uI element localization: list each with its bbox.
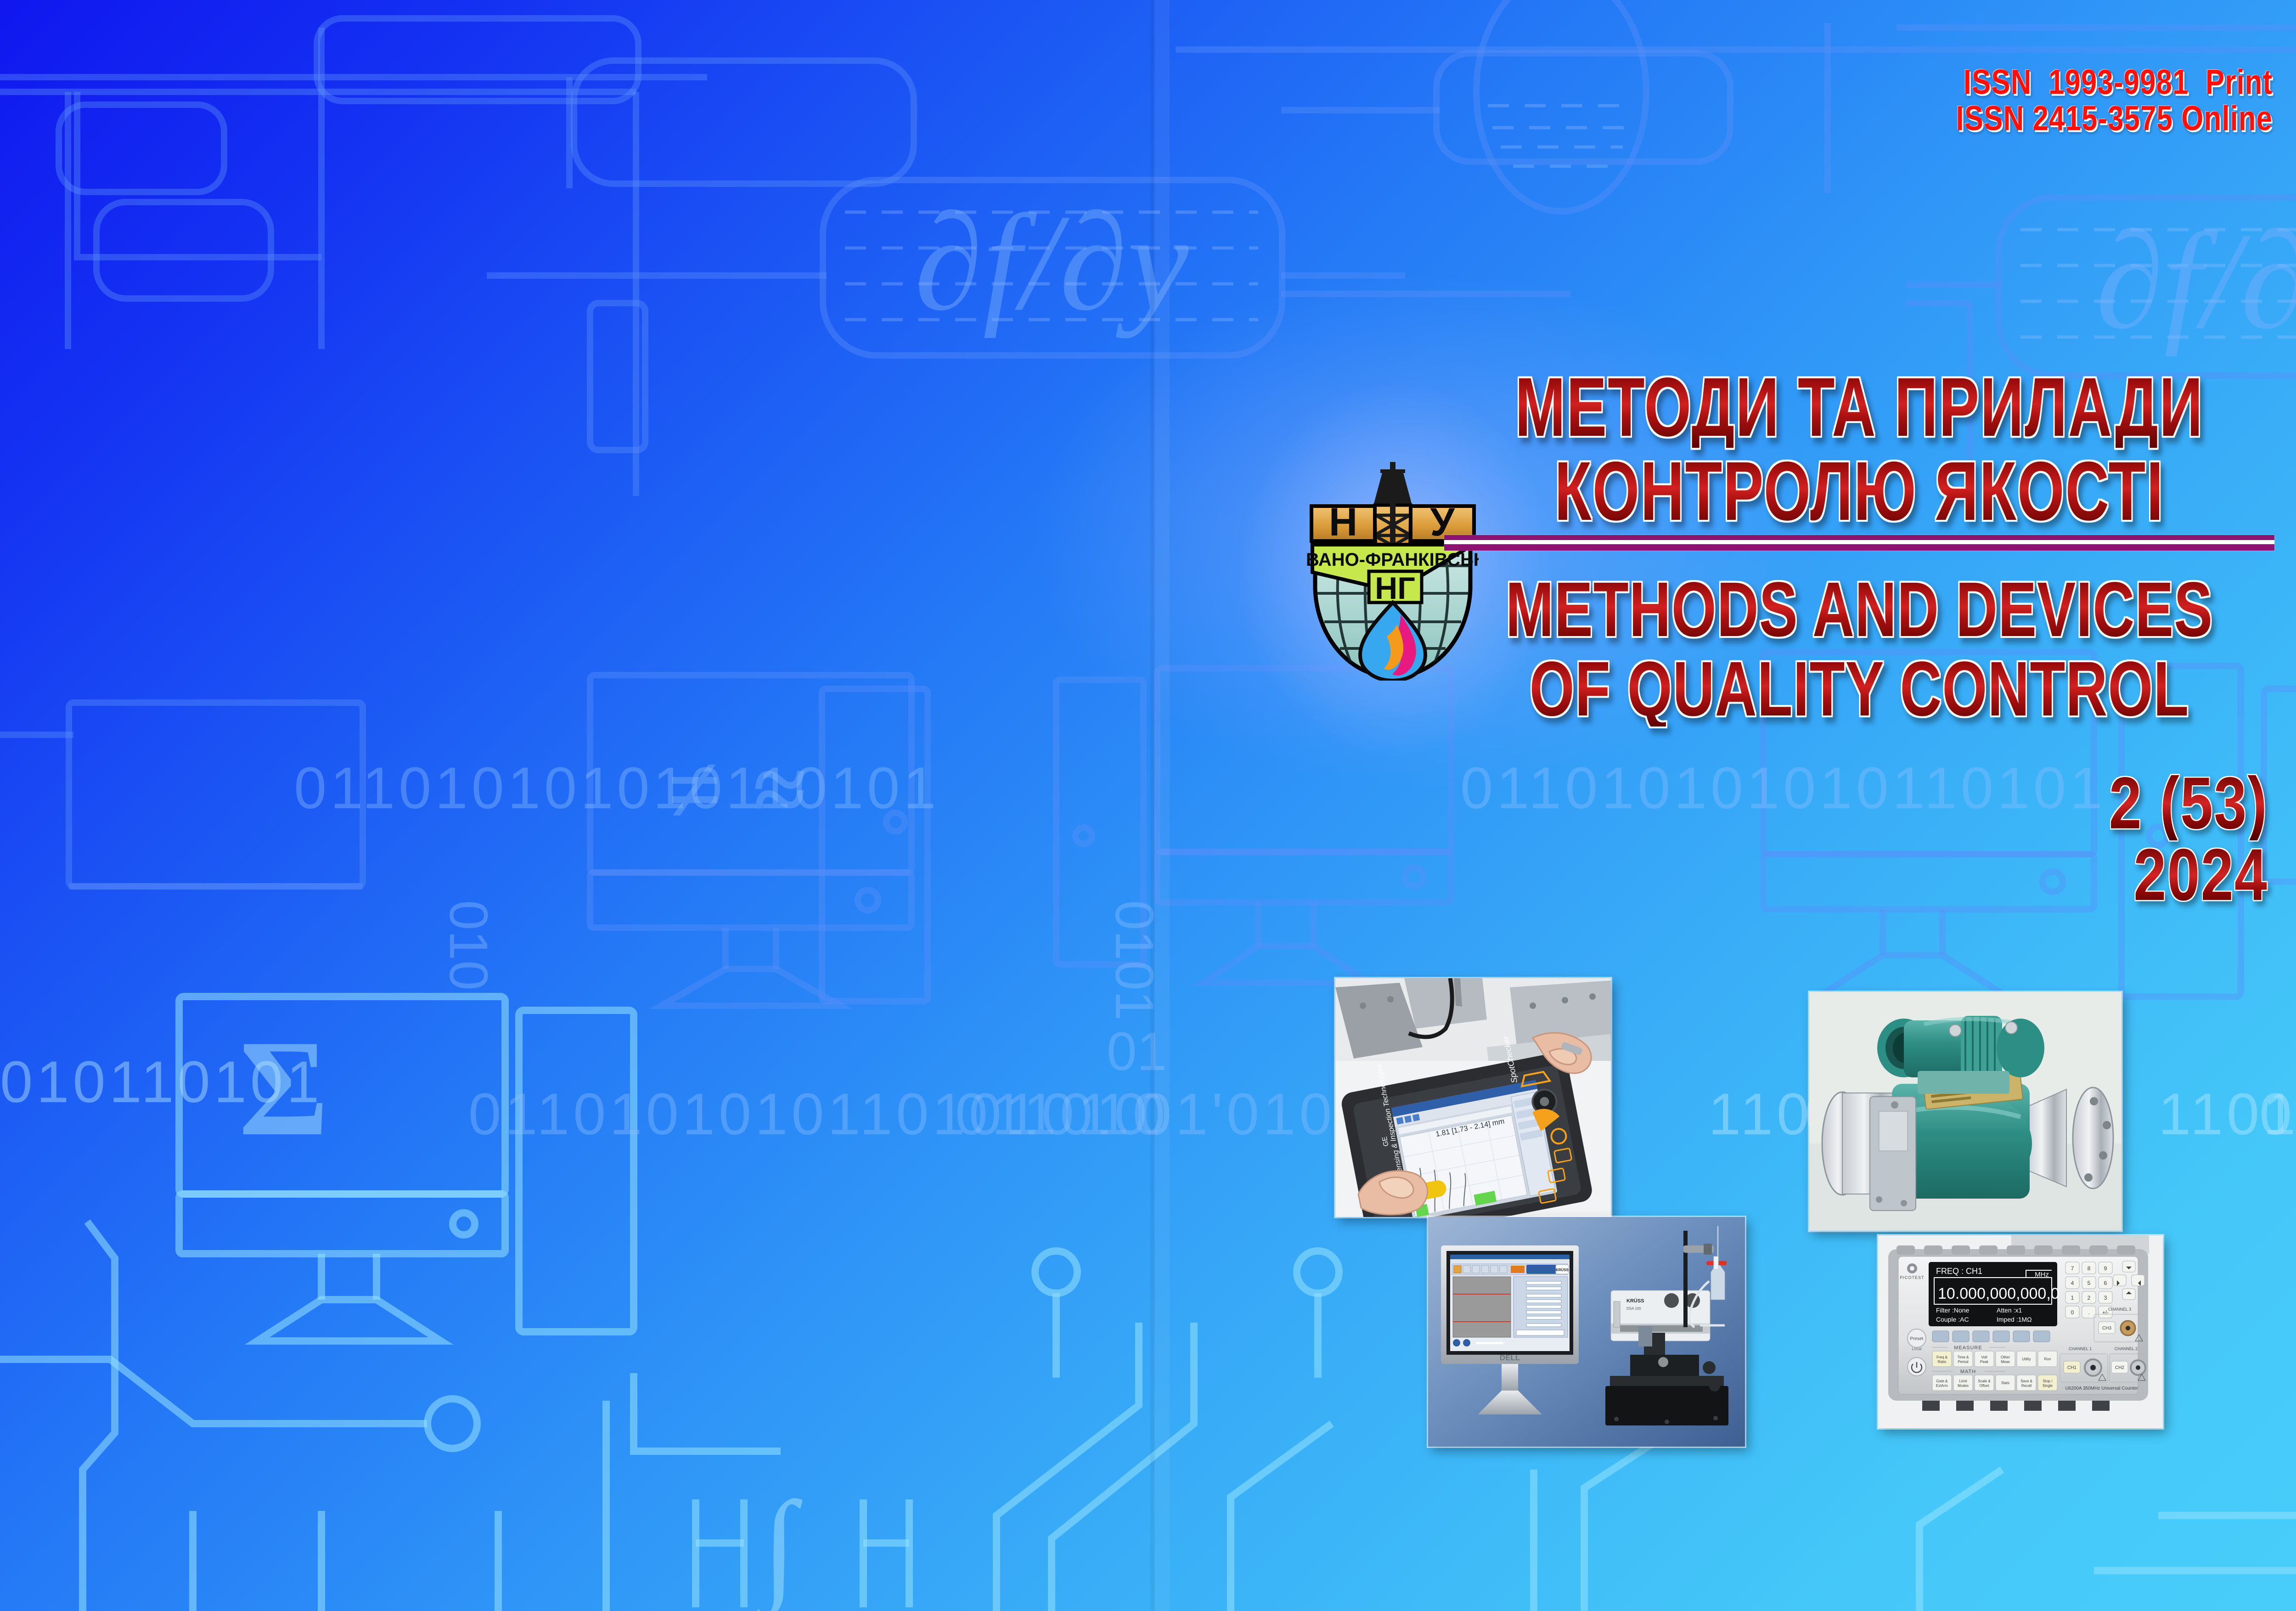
svg-text:010: 010 [438,900,499,991]
svg-text:0: 0 [2071,1309,2074,1316]
svg-text:≠: ≠ [668,737,721,843]
title-ua-line1: МЕТОДИ ТА ПРИЛАДИ [1441,367,2277,448]
svg-text:Preset: Preset [1910,1336,1924,1341]
svg-text:10.000,000,000,0: 10.000,000,000,0 [1938,1285,2060,1302]
svg-text:CH1: CH1 [2067,1365,2077,1370]
svg-text:5: 5 [2088,1280,2091,1286]
svg-text:MATH: MATH [1960,1369,1976,1374]
svg-text:НГ: НГ [1375,571,1415,606]
svg-text:DELL: DELL [1500,1353,1520,1362]
svg-text:9: 9 [2104,1265,2107,1272]
svg-text:01: 01 [1107,1021,1167,1082]
schematic-lines-topleft: ∂f/∂y [0,0,1646,496]
svg-text:Period: Period [1958,1360,1968,1364]
issue-number: 2 (53) [2109,767,2268,840]
svg-text:Single: Single [2043,1384,2053,1388]
svg-text:11010: 11010 [2158,1082,2296,1147]
svg-text:010110101: 010110101 [0,1049,323,1115]
svg-text:Meas: Meas [2001,1360,2010,1364]
svg-text:Gate &: Gate & [1936,1379,1948,1383]
svg-text:011: 011 [2259,1082,2296,1147]
svg-text:∂f/∂y: ∂f/∂y [2096,204,2296,357]
svg-text:U6200A 350MHz Universal Counte: U6200A 350MHz Universal Counter [2065,1386,2138,1391]
svg-text:Stats: Stats [2001,1381,2009,1385]
issn-online: ISSN 2415-3575 Online [1956,101,2273,138]
title-area: МЕТОДИ ТА ПРИЛАДИ КОНТРОЛЮ ЯКОСТІ METHOD… [1441,367,2277,732]
svg-text:Utility: Utility [2022,1357,2031,1361]
spine-crease [1153,0,1162,1611]
svg-text:Atten :x1: Atten :x1 [1997,1307,2022,1314]
svg-text:011010101010110101: 011010101010110101 [1460,755,2106,821]
svg-text:7: 7 [2071,1265,2074,1272]
journal-cover: .ln{fill:none;stroke:#5a8ffb;stroke-opac… [0,0,2296,1611]
svg-text:PICOTEST: PICOTEST [1900,1275,1924,1280]
svg-text:Couple :AC: Couple :AC [1936,1316,1969,1323]
photo-universal-counter: PICOTEST FREQ : CH1 MHz 10.000,000,000,0… [1878,1235,2163,1428]
svg-text:KRÜSS: KRÜSS [1556,1268,1569,1272]
svg-text:3: 3 [2104,1295,2107,1301]
svg-text:Offset: Offset [1979,1384,1989,1388]
svg-text:CHANNEL 2: CHANNEL 2 [2115,1346,2138,1351]
svg-text:6: 6 [2104,1280,2107,1286]
svg-text:Stop /: Stop / [2043,1379,2053,1383]
svg-text:0101: 0101 [1104,900,1165,1021]
svg-text:Modes: Modes [1958,1384,1969,1388]
svg-text:FREQ : CH1: FREQ : CH1 [1936,1267,1982,1276]
photo-tensiometer-workstation: KRÜSS DELL KRÜSS DSA 100 [1428,1217,1745,1447]
svg-text:8: 8 [2088,1265,2091,1272]
svg-text:2: 2 [2088,1295,2091,1301]
svg-text:MEASURE: MEASURE [1954,1345,1982,1351]
svg-text:Recall: Recall [2021,1384,2032,1388]
svg-text:011010: 011010 [955,1082,1169,1147]
svg-text:Scale &: Scale & [1978,1379,1991,1383]
svg-text:∂f/∂y: ∂f/∂y [915,186,1190,339]
title-en-line2: OF QUALITY CONTROL [1441,652,2277,727]
svg-text:∫: ∫ [754,1476,803,1611]
issn-print: ISSN 1993-9981 Print [1956,64,2273,102]
svg-text:Run: Run [2044,1357,2051,1361]
svg-text:CH2: CH2 [2115,1365,2124,1370]
svg-text:Σ: Σ [239,1012,329,1164]
logo-letter-n: Н [1329,500,1357,544]
svg-text:Peak: Peak [1980,1360,1989,1364]
svg-text:0110101010110101010: 0110101010110101010 [468,1082,1151,1147]
svg-text:CHANNEL 1: CHANNEL 1 [2069,1346,2092,1351]
svg-text:≈: ≈ [753,737,806,843]
title-divider [1444,535,2274,551]
svg-text:DSA 100: DSA 100 [1626,1307,1641,1311]
svg-text:011010101010110101: 011010101010110101 [294,755,940,821]
title-ua-line2: КОНТРОЛЮ ЯКОСТІ [1441,451,2277,532]
svg-text:CHANNEL 3: CHANNEL 3 [2108,1307,2131,1312]
svg-text:Filter :None: Filter :None [1936,1307,1970,1314]
svg-text:Save &: Save & [2020,1379,2032,1383]
issue-block: 2 (53) 2024 [2109,767,2268,910]
svg-text:CH3: CH3 [2102,1326,2111,1331]
photo-ultrasonic-flaw-detector: 1.81 [1.73 - 2.14] mm GE Sensing & Inspe… [1335,978,1611,1217]
svg-text:MHz: MHz [2035,1271,2049,1279]
svg-text:ExtArm: ExtArm [1936,1384,1948,1388]
issn-block: ISSN 1993-9981 Print ISSN 2415-3575 Onli… [1956,64,2273,137]
svg-text:Local: Local [1912,1346,1922,1351]
svg-text:Ratio: Ratio [1938,1360,1947,1364]
issue-year: 2024 [2109,839,2268,912]
photo-ultrasonic-flowmeter [1809,992,2122,1231]
logo-letters-ng: НГ [1369,571,1422,606]
svg-text:Freq &: Freq & [1936,1355,1948,1359]
title-en-line1: METHODS AND DEVICES [1441,573,2277,647]
svg-text:Limit: Limit [1959,1379,1968,1383]
svg-text:Imped :1MΩ: Imped :1MΩ [1997,1316,2032,1323]
svg-text:1: 1 [2071,1295,2074,1301]
svg-text:Volt: Volt [1981,1355,1987,1359]
svg-text:Time &: Time & [1957,1355,1969,1359]
svg-text:Other: Other [2001,1355,2010,1359]
svg-text:KRÜSS: KRÜSS [1626,1298,1644,1304]
svg-text:4: 4 [2071,1280,2074,1286]
svg-text:.: . [2088,1309,2089,1316]
